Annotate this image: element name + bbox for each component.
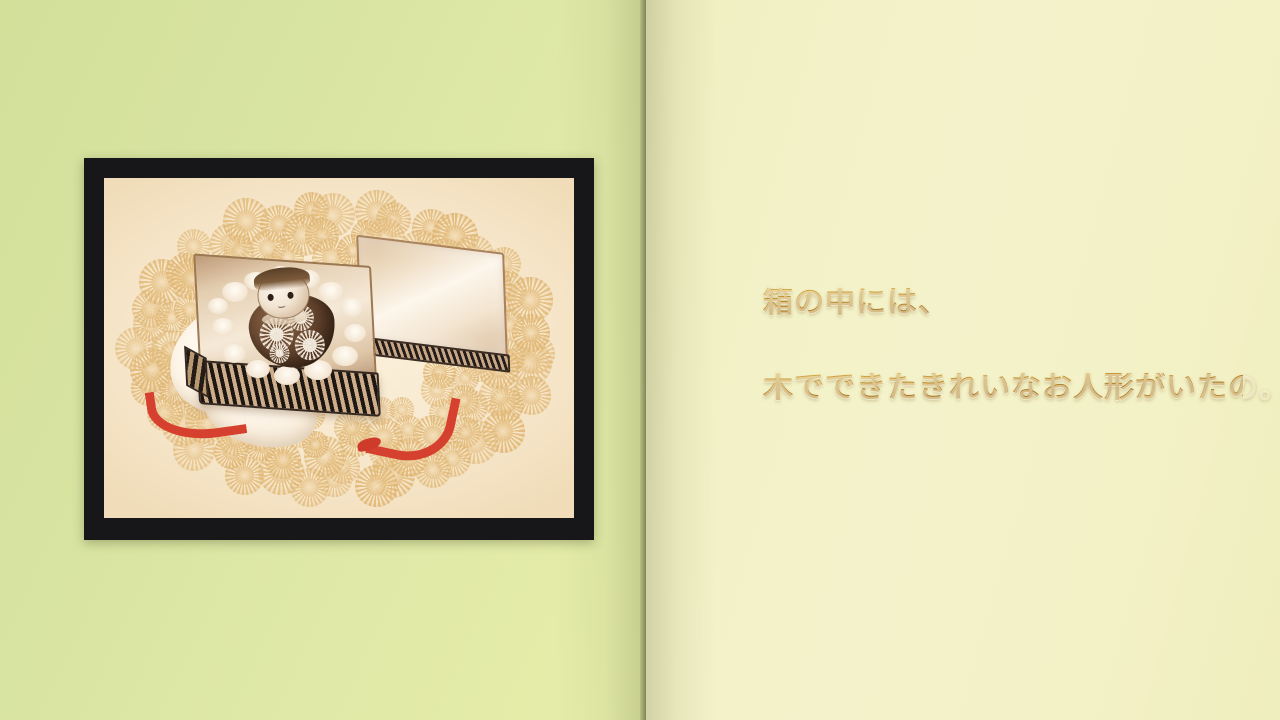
illustration-frame <box>84 158 594 540</box>
storybook-spread: 箱の中には、 木でできたきれいなお人形がいたの。 <box>0 0 1280 720</box>
lace-frill <box>222 344 246 363</box>
left-page <box>0 0 646 720</box>
doll-box-scene <box>104 178 574 518</box>
caption-line-1: 箱の中には、 <box>763 288 1243 318</box>
lace-frill <box>340 298 364 317</box>
doll-flower-motif <box>293 329 326 362</box>
box-lid <box>356 235 508 358</box>
lace-frill <box>344 324 366 342</box>
caption-block: 箱の中には、 木でできたきれいなお人形がいたの。 <box>763 288 1243 403</box>
illustration-canvas <box>104 178 574 518</box>
lace-frill <box>212 318 234 336</box>
right-page-gutter-shading <box>646 0 716 720</box>
caption-line-2: 木でできたきれいなお人形がいたの。 <box>763 373 1243 403</box>
wooden-doll <box>237 265 343 372</box>
lace-frill <box>208 298 228 314</box>
